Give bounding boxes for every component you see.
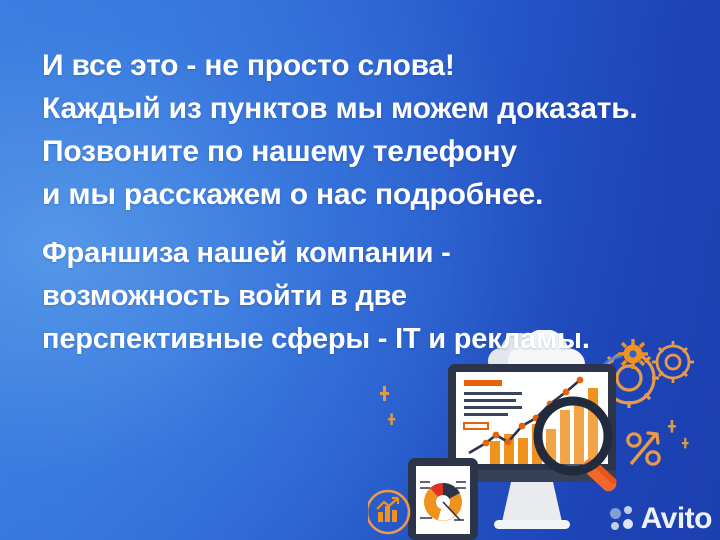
copy-line: и мы расскажем о нас подробнее. <box>42 173 702 216</box>
copy-line: Франшиза нашей компании - <box>42 232 702 275</box>
paragraph-secondary: Франшиза нашей компании - возможность во… <box>42 232 702 361</box>
copy-line: Позвоните по нашему телефону <box>42 130 702 173</box>
avito-wordmark: Avito <box>641 504 712 534</box>
chart-badge-icon <box>368 491 409 533</box>
copy-line: возможность войти в две <box>42 275 702 318</box>
paragraph-primary: И все это - не просто слова! Каждый из п… <box>42 44 702 216</box>
copy-line: перспективные сферы - IT и рекламы. <box>42 318 702 361</box>
avito-dots-logo <box>610 506 636 532</box>
copy-line: Каждый из пунктов мы можем доказать. <box>42 87 702 130</box>
copy-line: И все это - не просто слова! <box>42 44 702 87</box>
promo-poster: И все это - не просто слова! Каждый из п… <box>0 0 720 540</box>
percent-icon <box>628 433 659 464</box>
headline-copy: И все это - не просто слова! Каждый из п… <box>42 44 702 361</box>
avito-watermark: Avito <box>610 504 712 534</box>
